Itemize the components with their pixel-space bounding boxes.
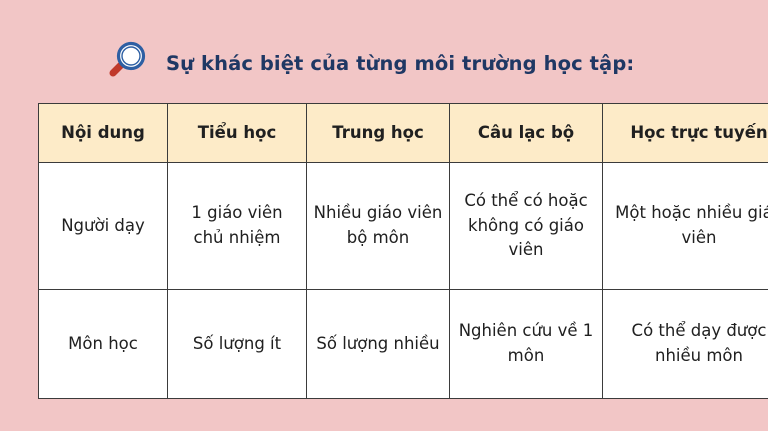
table-row: Môn học Số lượng ít Số lượng nhiều Nghiê…	[39, 290, 768, 399]
table-cell: Có thể dạy được nhiều môn	[603, 290, 768, 399]
table-row: Người dạy 1 giáo viên chủ nhiệm Nhiều gi…	[39, 163, 768, 290]
comparison-table: Nội dung Tiểu học Trung học Câu lạc bộ H…	[38, 103, 768, 399]
table-cell: Số lượng ít	[168, 290, 307, 399]
table-cell: Một hoặc nhiều giáo viên	[603, 163, 768, 290]
magnifier-icon	[100, 40, 152, 86]
table-header-row: Nội dung Tiểu học Trung học Câu lạc bộ H…	[39, 104, 768, 163]
table-header-cell: Tiểu học	[168, 104, 307, 163]
table-cell: Có thể có hoặc không có giáo viên	[450, 163, 603, 290]
title-row: Sự khác biệt của từng môi trường học tập…	[100, 40, 634, 86]
table-cell: Nghiên cứu về 1 môn	[450, 290, 603, 399]
comparison-table-wrap: Nội dung Tiểu học Trung học Câu lạc bộ H…	[38, 103, 730, 399]
table-header-cell: Trung học	[307, 104, 450, 163]
page-title: Sự khác biệt của từng môi trường học tập…	[166, 52, 634, 75]
slide: Sự khác biệt của từng môi trường học tập…	[0, 0, 768, 431]
table-header-cell: Học trực tuyến	[603, 104, 768, 163]
table-cell: 1 giáo viên chủ nhiệm	[168, 163, 307, 290]
table-header-cell: Nội dung	[39, 104, 168, 163]
table-cell: Nhiều giáo viên bộ môn	[307, 163, 450, 290]
table-cell: Người dạy	[39, 163, 168, 290]
table-cell: Số lượng nhiều	[307, 290, 450, 399]
table-cell: Môn học	[39, 290, 168, 399]
table-header-cell: Câu lạc bộ	[450, 104, 603, 163]
